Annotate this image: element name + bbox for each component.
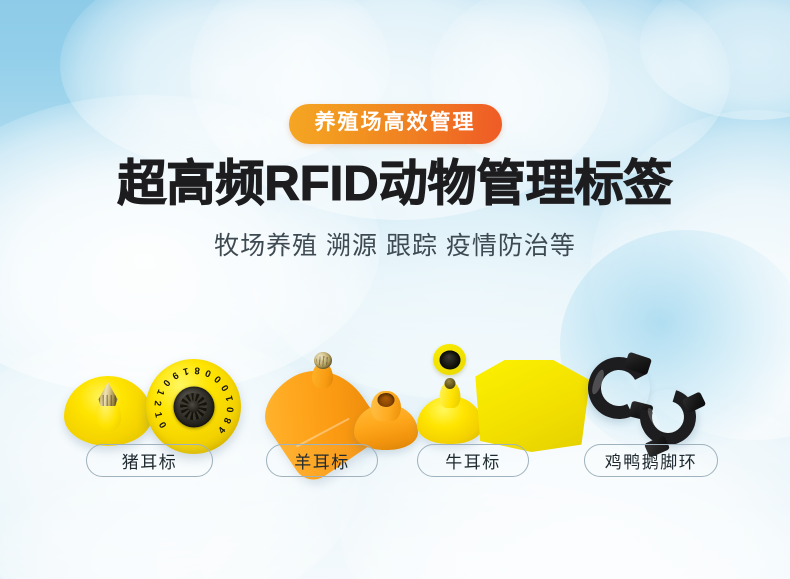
headline-block: 养殖场高效管理 超高频RFID动物管理标签 牧场养殖 溯源 跟踪 疫情防治等 bbox=[0, 0, 790, 262]
product-label-poultry[interactable]: 鸡鸭鹅脚环 bbox=[584, 444, 718, 477]
rfid-chip-icon bbox=[173, 386, 214, 427]
pig-tag-female-disc: 012109180001084 bbox=[146, 359, 241, 454]
cow-tag-button bbox=[417, 396, 483, 444]
metal-spike-icon bbox=[99, 382, 118, 406]
cow-tag-hole bbox=[433, 344, 466, 375]
product-banner: 养殖场高效管理 超高频RFID动物管理标签 牧场养殖 溯源 跟踪 疫情防治等 0… bbox=[0, 0, 790, 579]
pig-tag-male-disc bbox=[64, 376, 152, 446]
product-label-pig[interactable]: 猪耳标 bbox=[86, 444, 213, 477]
cow-tag-plate bbox=[468, 360, 590, 452]
page-title: 超高频RFID动物管理标签 bbox=[0, 157, 790, 212]
product-illustration-row: 012109180001084 bbox=[0, 330, 790, 460]
page-subtitle: 牧场养殖 溯源 跟踪 疫情防治等 bbox=[0, 226, 790, 262]
product-label-sheep[interactable]: 羊耳标 bbox=[266, 444, 378, 477]
product-label-cow[interactable]: 牛耳标 bbox=[417, 444, 529, 477]
metal-spike-icon bbox=[314, 352, 332, 369]
badge-tagline: 养殖场高效管理 bbox=[289, 104, 502, 144]
product-label-row: 猪耳标 羊耳标 牛耳标 鸡鸭鹅脚环 bbox=[0, 444, 790, 478]
